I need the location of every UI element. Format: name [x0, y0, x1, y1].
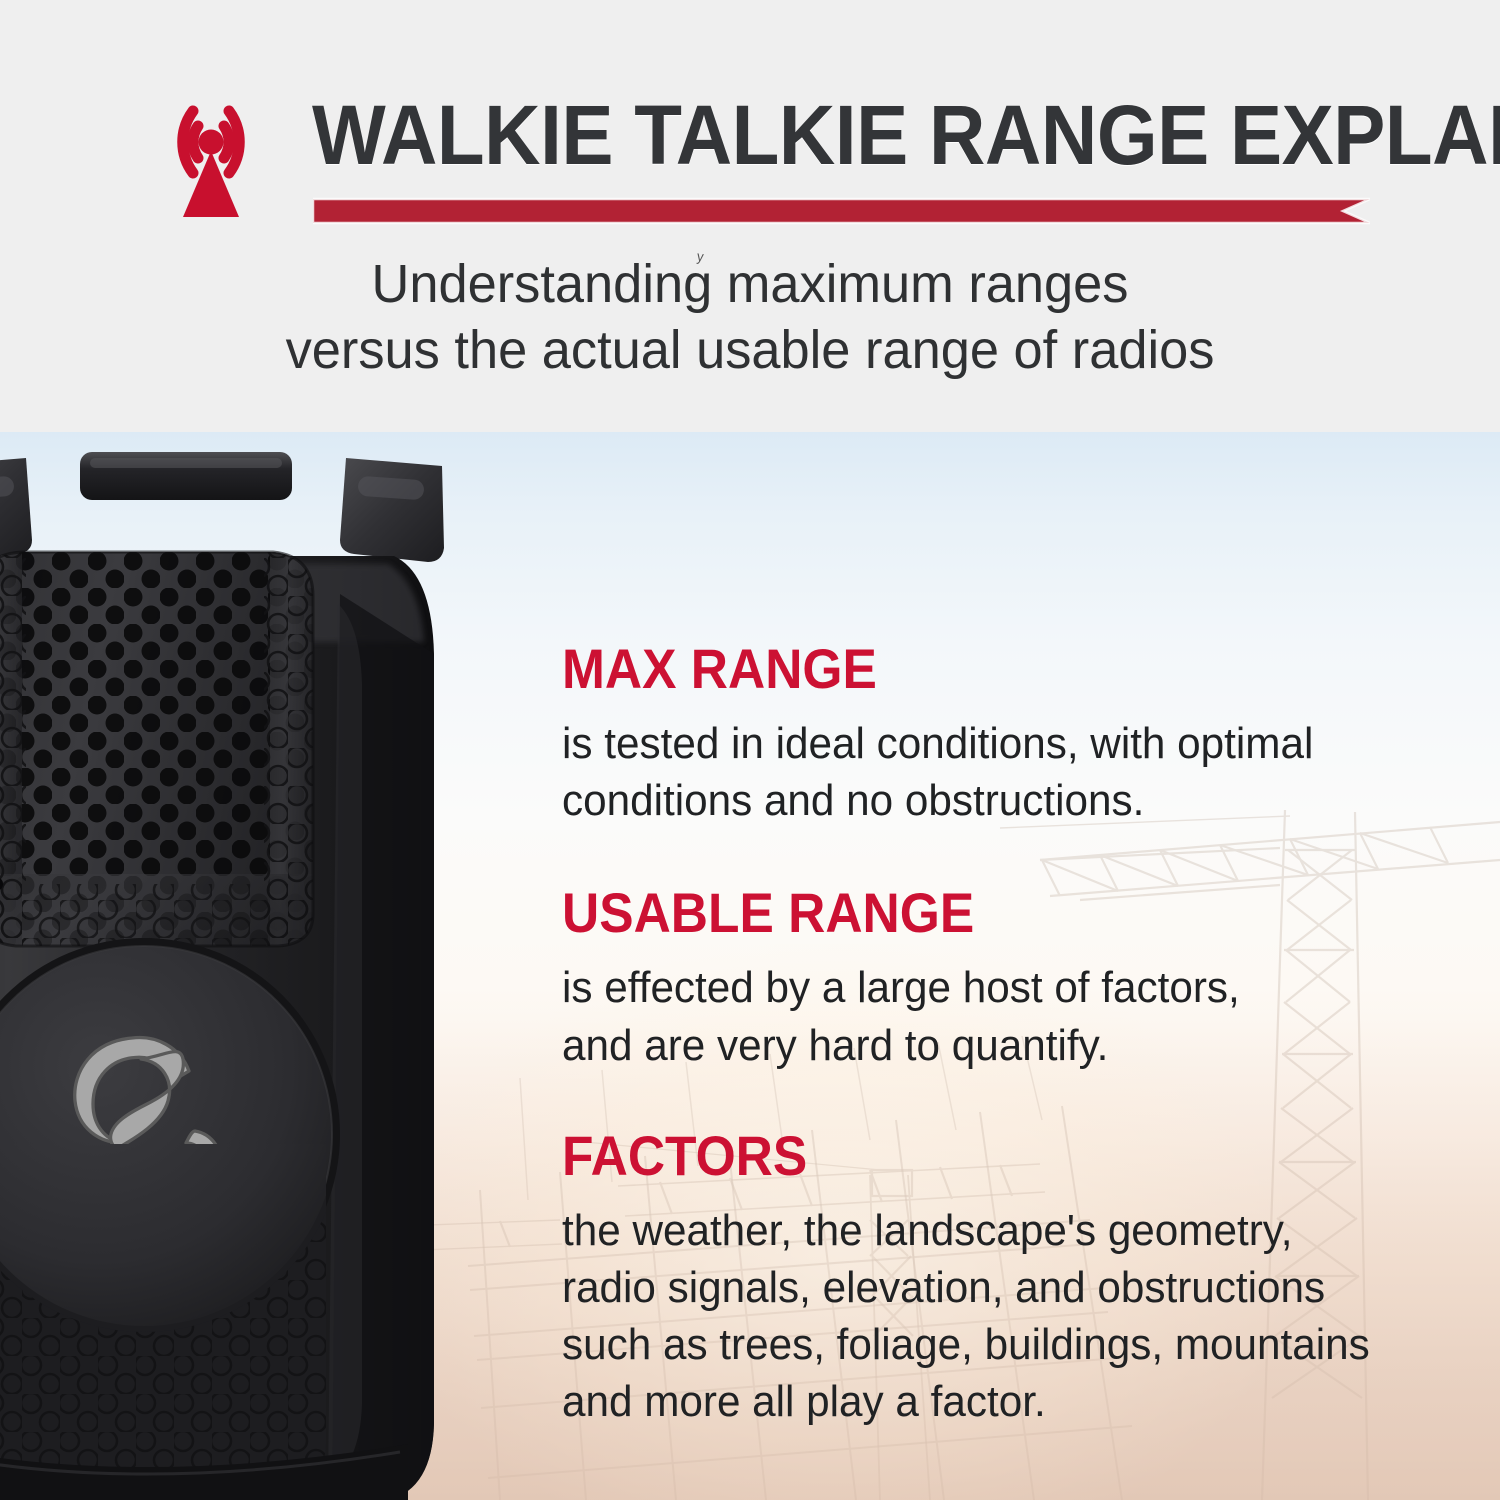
section-heading-usable-range: USABLE RANGE	[562, 885, 1390, 941]
body-line: and more all play a factor.	[562, 1373, 1426, 1430]
section-usable-range: USABLE RANGE is effected by a large host…	[562, 885, 1462, 1073]
section-factors: FACTORS the weather, the landscape's geo…	[562, 1128, 1462, 1431]
body-line: the weather, the landscape's geometry,	[562, 1202, 1426, 1259]
body-line: is tested in ideal conditions, with opti…	[562, 715, 1426, 772]
subtitle: ʸ Understanding maximum ranges versus th…	[23, 252, 1478, 384]
infographic-canvas: WALKIE TALKIE RANGE EXPLAINED ʸ Understa…	[0, 0, 1500, 1500]
body-line: such as trees, foliage, buildings, mount…	[562, 1316, 1426, 1373]
section-heading-factors: FACTORS	[562, 1128, 1390, 1184]
page-title: WALKIE TALKIE RANGE EXPLAINED	[312, 96, 1298, 176]
body-line: is effected by a large host of factors,	[562, 959, 1426, 1016]
section-body-max-range: is tested in ideal conditions, with opti…	[562, 715, 1426, 829]
left-side-tab[interactable]	[0, 458, 32, 562]
section-heading-max-range: MAX RANGE	[562, 641, 1390, 697]
header-band: WALKIE TALKIE RANGE EXPLAINED ʸ Understa…	[0, 0, 1500, 432]
speaker-grille	[0, 549, 318, 949]
subtitle-line-2: versus the actual usable range of radios	[23, 318, 1478, 384]
body-line: and are very hard to quantify.	[562, 1017, 1426, 1074]
body-line: conditions and no obstructions.	[562, 772, 1426, 829]
cobra-walkie-talkie	[0, 444, 468, 1500]
subtitle-line-1: Understanding maximum ranges	[23, 252, 1478, 318]
antenna-housing	[80, 452, 292, 500]
title-block: WALKIE TALKIE RANGE EXPLAINED	[312, 96, 1372, 176]
section-body-factors: the weather, the landscape's geometry, r…	[562, 1202, 1426, 1431]
radio-tower-icon	[145, 93, 277, 221]
body-line: radio signals, elevation, and obstructio…	[562, 1259, 1426, 1316]
sections-column: MAX RANGE is tested in ideal conditions,…	[562, 430, 1462, 1487]
section-body-usable-range: is effected by a large host of factors, …	[562, 959, 1426, 1073]
section-max-range: MAX RANGE is tested in ideal conditions,…	[562, 430, 1462, 829]
right-side-tab[interactable]	[340, 458, 444, 562]
title-red-ribbon	[313, 196, 1370, 226]
